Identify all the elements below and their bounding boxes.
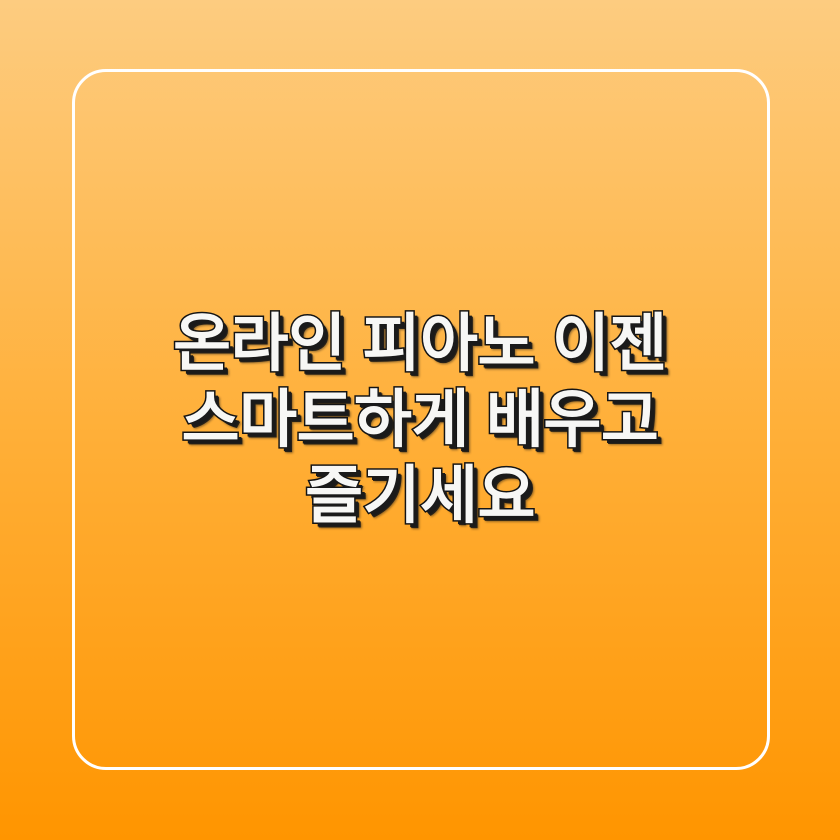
banner-headline: 온라인 피아노 이젠 스마트하게 배우고 즐기세요 [120,306,720,534]
promo-banner: 온라인 피아노 이젠 스마트하게 배우고 즐기세요 [0,0,840,840]
headline-block: 온라인 피아노 이젠 스마트하게 배우고 즐기세요 [100,306,740,534]
